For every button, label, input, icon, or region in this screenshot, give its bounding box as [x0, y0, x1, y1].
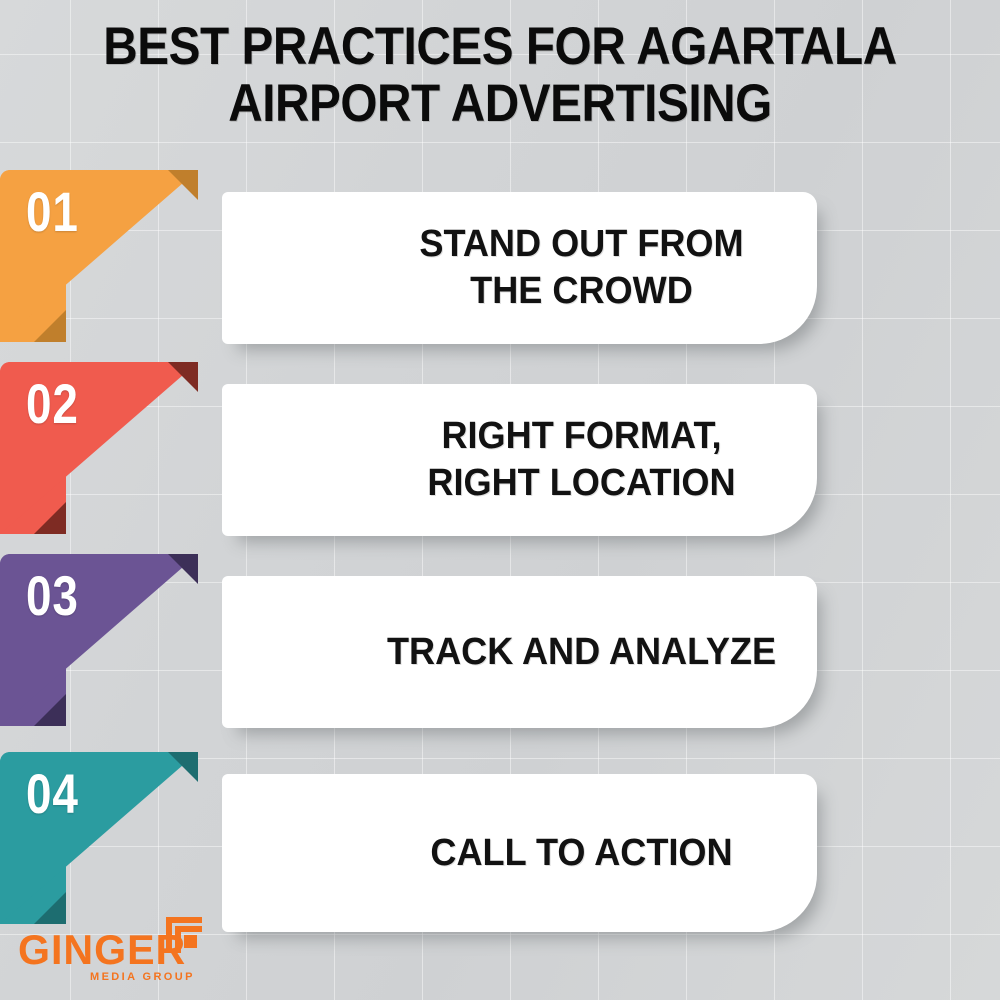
- step-number: 03: [26, 566, 79, 626]
- step-number-tag[interactable]: 03: [0, 554, 198, 726]
- step-number: 04: [26, 764, 79, 824]
- logo-tagline: MEDIA GROUP: [90, 971, 195, 983]
- step-card[interactable]: TRACK AND ANALYZE: [222, 576, 817, 728]
- brand-logo: GINGER MEDIA GROUP: [14, 915, 224, 993]
- step-label: CALL TO ACTION: [382, 774, 780, 932]
- step-number: 02: [26, 374, 79, 434]
- step-number-tag[interactable]: 04: [0, 752, 198, 924]
- step-number-tag[interactable]: 02: [0, 362, 198, 534]
- step-row[interactable]: TRACK AND ANALYZE03: [0, 554, 1000, 754]
- step-card[interactable]: RIGHT FORMAT, RIGHT LOCATION: [222, 384, 817, 536]
- step-card[interactable]: CALL TO ACTION: [222, 774, 817, 932]
- infographic-canvas: BEST PRACTICES FOR AGARTALA AIRPORT ADVE…: [0, 0, 1000, 1000]
- step-label: TRACK AND ANALYZE: [382, 576, 780, 728]
- step-card[interactable]: STAND OUT FROM THE CROWD: [222, 192, 817, 344]
- step-row[interactable]: STAND OUT FROM THE CROWD01: [0, 170, 1000, 370]
- logo-wordmark: GINGER: [18, 929, 186, 971]
- step-row[interactable]: RIGHT FORMAT, RIGHT LOCATION02: [0, 362, 1000, 562]
- page-title: BEST PRACTICES FOR AGARTALA AIRPORT ADVE…: [50, 18, 950, 132]
- nested-squares-icon: [164, 915, 204, 955]
- step-label: STAND OUT FROM THE CROWD: [382, 192, 780, 344]
- step-number-tag[interactable]: 01: [0, 170, 198, 342]
- step-number: 01: [26, 182, 79, 242]
- step-label: RIGHT FORMAT, RIGHT LOCATION: [382, 384, 780, 536]
